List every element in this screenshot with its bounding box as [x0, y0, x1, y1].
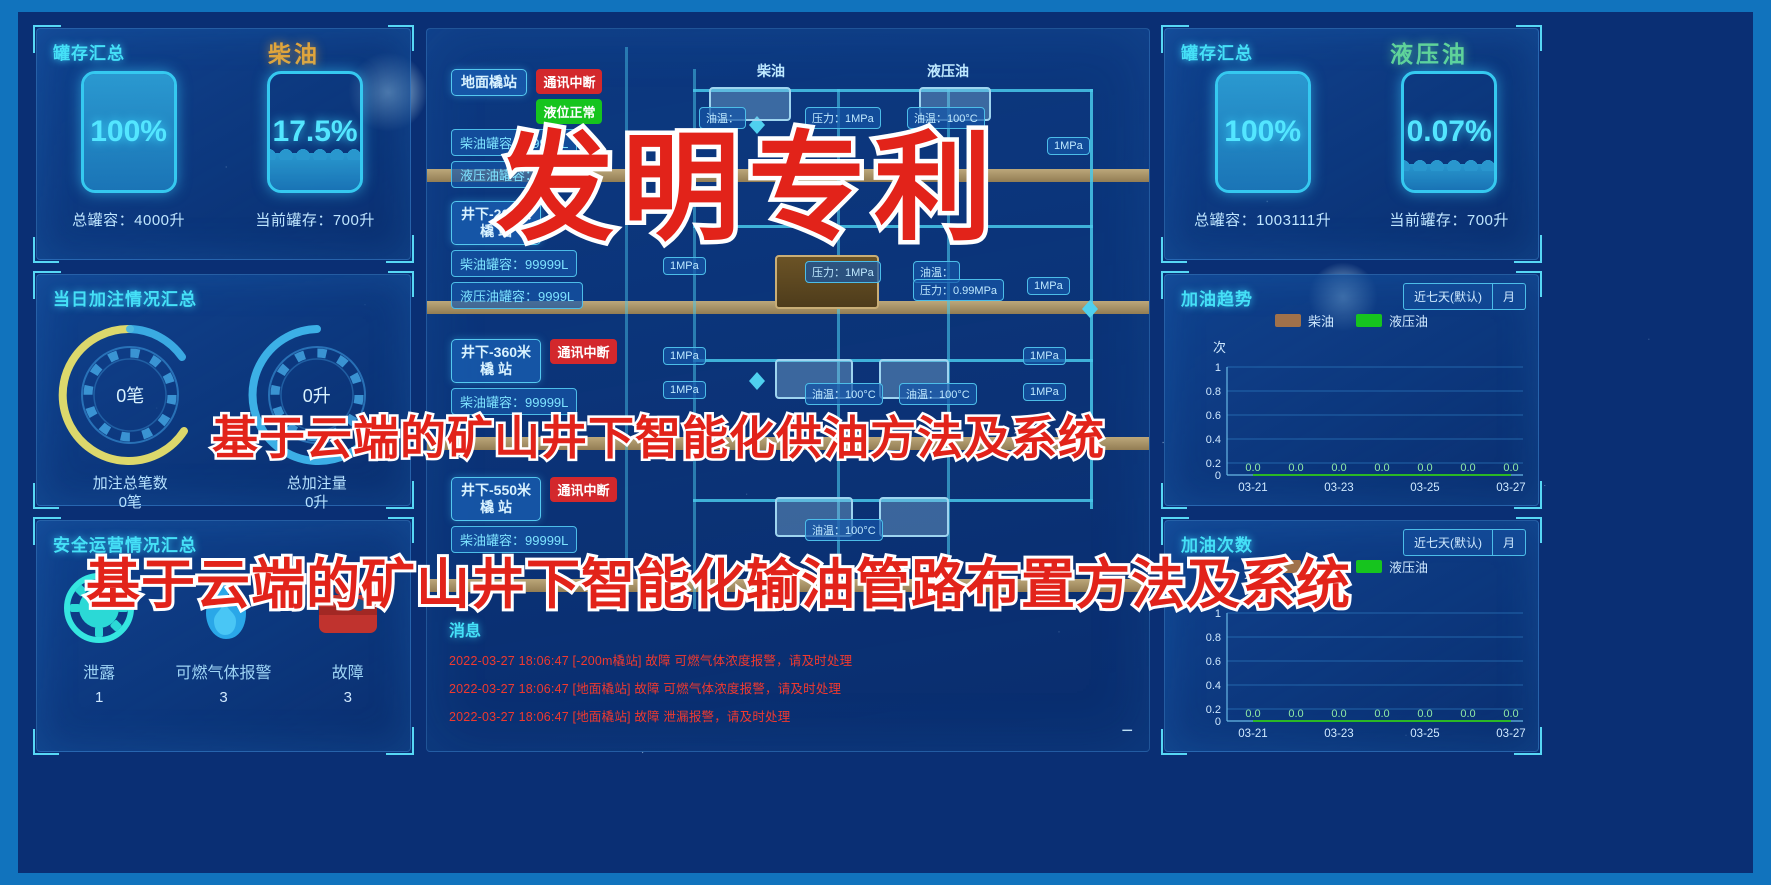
tank-caption: 总罐容：4000升 [72, 209, 185, 230]
capacity-chip: 柴油罐容：99999L [451, 526, 577, 553]
measure-oil-temp-100: 油温：100°C [805, 519, 883, 541]
svg-text:0.6: 0.6 [1206, 410, 1221, 422]
left-refuel-summary-panel: 当日加注情况汇总 0笔 加注总笔数 [36, 274, 411, 506]
svg-text:0.0: 0.0 [1417, 708, 1432, 720]
station-200m[interactable]: 井下-200米 橇 站 柴油罐容：99999L 液压油罐容：9999L [451, 201, 583, 309]
svg-text:0.0: 0.0 [1374, 462, 1389, 474]
svg-text:0.2: 0.2 [1206, 458, 1221, 470]
panel-title: 安全运营情况汇总 [53, 531, 197, 556]
message-log-title: 消息 [449, 617, 1129, 641]
safety-label: 故障 [332, 659, 364, 683]
tank-percent: 100% [1224, 115, 1301, 149]
svg-text:0: 0 [1215, 716, 1221, 728]
dashboard-screen: 罐存汇总 柴油 100% 总罐容：4000升 17.5% 当前罐存：700升 当… [18, 12, 1753, 873]
measure-pipe-pressure: 1MPa [1027, 277, 1070, 295]
tank-percent: 0.07% [1407, 115, 1492, 149]
station-360m[interactable]: 井下-360米 橇 站 通讯中断 柴油罐容：99999L [451, 339, 617, 415]
legend-swatch-hydraulic [1356, 560, 1382, 573]
capacity-chip: 柴油罐容：99999L [451, 250, 577, 277]
tank-caption: 当前罐存：700升 [255, 209, 375, 230]
svg-text:03-21: 03-21 [1238, 728, 1267, 740]
legend-item-diesel[interactable]: 柴油 [1275, 557, 1334, 576]
right-tank-gauges: 100% 总罐容：1003111升 0.07% 当前罐存：700升 [1165, 71, 1538, 230]
svg-text:0.0: 0.0 [1331, 462, 1346, 474]
svg-text:03-25: 03-25 [1410, 728, 1439, 740]
safety-item: 可燃气体报警 3 [163, 571, 283, 706]
dial-value: 0笔 [56, 321, 204, 469]
svg-text:03-25: 03-25 [1410, 482, 1439, 494]
message-item: 2022-03-27 18:06:47 [地面橇站] 故障 泄漏报警，请及时处理 [449, 706, 1129, 725]
legend-swatch-diesel [1275, 560, 1301, 573]
oil-label-diesel: 柴油 [757, 61, 785, 81]
legend-item-diesel[interactable]: 柴油 [1275, 311, 1334, 330]
pipeline-schematic-panel: 地面橇站 通讯中断 液位正常 柴油罐容：99999L 液压油罐容：9999L 井… [426, 28, 1150, 752]
range-button-month[interactable]: 月 [1493, 283, 1526, 310]
legend-item-hydraulic[interactable]: 液压油 [1356, 557, 1428, 576]
legend-swatch-hydraulic [1356, 314, 1382, 327]
count-y-axis-title: 次 [1213, 583, 1226, 602]
svg-text:0.0: 0.0 [1460, 462, 1475, 474]
tank-visual: 100% [1215, 71, 1311, 193]
capacity-chip: 液压油罐容：9999L [451, 161, 583, 188]
svg-text:0.8: 0.8 [1206, 632, 1221, 644]
left-safety-summary-panel: 安全运营情况汇总 泄露 1 [36, 520, 411, 752]
riser-pipe [693, 69, 696, 609]
measure-pressure-099: 压力：0.99MPa [913, 279, 1004, 301]
toolbox-icon [311, 571, 385, 645]
safety-label: 泄露 [83, 659, 115, 683]
svg-text:0.8: 0.8 [1206, 386, 1221, 398]
svg-text:0.2: 0.2 [1206, 704, 1221, 716]
svg-text:0.0: 0.0 [1245, 708, 1260, 720]
svg-text:1: 1 [1215, 608, 1221, 620]
refuel-dial: 0升 总加注量 0升 [243, 321, 391, 513]
svg-text:03-27: 03-27 [1496, 482, 1525, 494]
dial-value: 0升 [243, 321, 391, 469]
tank-percent: 17.5% [273, 115, 358, 149]
count-range-selector: 近七天(默认) 月 [1403, 529, 1526, 556]
flame-icon [186, 571, 260, 645]
tank-caption: 当前罐存：700升 [1389, 209, 1509, 230]
svg-text:0: 0 [1215, 470, 1221, 482]
tank-caption: 总罐容：1003111升 [1194, 209, 1331, 230]
range-button-week[interactable]: 近七天(默认) [1403, 529, 1493, 556]
svg-text:0.0: 0.0 [1288, 462, 1303, 474]
measure-oil-temp: 油温： [699, 107, 746, 129]
svg-text:03-23: 03-23 [1324, 482, 1353, 494]
refuel-dial: 0笔 加注总笔数 0笔 [56, 321, 204, 513]
measure-pipe-pressure: 1MPa [1023, 347, 1066, 365]
safety-item: 泄露 1 [39, 571, 159, 706]
svg-text:0.0: 0.0 [1417, 462, 1432, 474]
svg-text:0.0: 0.0 [1503, 708, 1518, 720]
left-product-label: 柴油 [268, 35, 320, 69]
message-item: 2022-03-27 18:06:47 [地面橇站] 故障 可燃气体浓度报警，请… [449, 678, 1129, 697]
measure-pipe-pressure: 1MPa [1047, 137, 1090, 155]
panel-title: 当日加注情况汇总 [53, 285, 197, 310]
safety-value: 3 [219, 689, 227, 706]
safety-value: 3 [344, 689, 352, 706]
panel-title: 加油次数 [1181, 531, 1253, 556]
legend-label: 液压油 [1389, 557, 1428, 576]
svg-text:0.4: 0.4 [1206, 434, 1221, 446]
tank-gauge: 100% 总罐容：1003111升 [1194, 71, 1331, 230]
status-badge: 通讯中断 [550, 339, 616, 364]
trend-plot-svg: 10.80.6 0.40.20 0.00.00.0 0.00.00.00.0 0… [1183, 357, 1528, 497]
trend-y-axis-title: 次 [1213, 337, 1226, 356]
measure-pipe-pressure: 1MPa [663, 381, 706, 399]
station-name: 地面橇站 [451, 69, 527, 96]
tank-gauge: 17.5% 当前罐存：700升 [255, 71, 375, 230]
panel-title: 加油趋势 [1181, 285, 1253, 310]
panel-title: 罐存汇总 [53, 39, 125, 64]
measure-pipe-pressure: 1MPa [663, 257, 706, 275]
refuel-trend-panel: 加油趋势 近七天(默认) 月 柴油 液压油 次 [1164, 274, 1539, 506]
range-button-month[interactable]: 月 [1493, 529, 1526, 556]
dial-caption-top: 加注总笔数 [93, 475, 168, 492]
measure-oil-temp-100: 油温：100°C [899, 383, 977, 405]
count-plot: 10.80.6 0.40.20 0.00.00.0 0.00.00.00.0 0… [1183, 603, 1528, 743]
status-badge: 通讯中断 [536, 69, 602, 94]
station-ground[interactable]: 地面橇站 通讯中断 液位正常 柴油罐容：99999L 液压油罐容：9999L [451, 69, 602, 188]
station-name: 井下-200米 橇 站 [451, 201, 541, 245]
svg-text:0.0: 0.0 [1374, 708, 1389, 720]
panel-title: 罐存汇总 [1181, 39, 1253, 64]
trend-legend: 柴油 液压油 [1165, 311, 1538, 330]
measure-pressure: 压力：1MPa [805, 107, 881, 129]
measure-pressure: 压力：1MPa [805, 261, 881, 283]
capacity-chip: 柴油罐容：99999L [451, 388, 577, 415]
status-badge: 通讯中断 [550, 477, 616, 502]
dial-caption: 加注总笔数 0笔 [93, 475, 168, 513]
count-plot-svg: 10.80.6 0.40.20 0.00.00.0 0.00.00.00.0 0… [1183, 603, 1528, 743]
legend-item-hydraulic[interactable]: 液压油 [1356, 311, 1428, 330]
refuel-count-panel: 加油次数 近七天(默认) 月 柴油 液压油 次 [1164, 520, 1539, 752]
tank-percent: 100% [90, 115, 167, 149]
measure-oil-temp-100: 油温：100°C [907, 107, 985, 129]
svg-text:0.0: 0.0 [1503, 462, 1518, 474]
strata-level-550 [427, 579, 1149, 592]
svg-text:03-23: 03-23 [1324, 728, 1353, 740]
svg-text:0.4: 0.4 [1206, 680, 1221, 692]
range-button-week[interactable]: 近七天(默认) [1403, 283, 1493, 310]
dial-caption-top: 总加注量 [287, 475, 347, 492]
strata-level-360 [427, 437, 1149, 450]
capacity-chip: 柴油罐容：99999L [451, 129, 577, 156]
message-log: 消息 2022-03-27 18:06:47 [-200m橇站] 故障 可燃气体… [449, 617, 1129, 725]
count-legend: 柴油 液压油 [1165, 557, 1538, 576]
tank-gauge: 0.07% 当前罐存：700升 [1389, 71, 1509, 230]
measure-oil-temp-100: 油温：100°C [805, 383, 883, 405]
safety-label: 可燃气体报警 [175, 659, 271, 683]
safety-value: 1 [95, 689, 103, 706]
dial-caption: 总加注量 0升 [287, 475, 347, 513]
header-pipe [693, 225, 1093, 228]
dial-visual: 0笔 [56, 321, 204, 469]
tank-visual: 0.07% [1401, 71, 1497, 193]
trend-range-selector: 近七天(默认) 月 [1403, 283, 1526, 310]
tank-gauge: 100% 总罐容：4000升 [72, 71, 185, 230]
svg-text:0.0: 0.0 [1460, 708, 1475, 720]
svg-text:03-27: 03-27 [1496, 728, 1525, 740]
minus-icon[interactable]: − [1121, 720, 1133, 743]
safety-item: 故障 3 [288, 571, 408, 706]
equipment-tank [879, 497, 949, 537]
message-item: 2022-03-27 18:06:47 [-200m橇站] 故障 可燃气体浓度报… [449, 650, 1129, 669]
tank-visual: 17.5% [267, 71, 363, 193]
svg-text:1: 1 [1215, 362, 1221, 374]
svg-text:0.0: 0.0 [1245, 462, 1260, 474]
dial-caption-bottom: 0笔 [119, 494, 142, 511]
oil-label-hydraulic: 液压油 [927, 61, 969, 81]
svg-text:0.0: 0.0 [1331, 708, 1346, 720]
left-tank-summary-panel: 罐存汇总 柴油 100% 总罐容：4000升 17.5% 当前罐存：700升 [36, 28, 411, 260]
capacity-chip: 液压油罐容：9999L [451, 282, 583, 309]
right-product-label: 液压油 [1390, 35, 1468, 69]
status-badge: 液位正常 [536, 99, 602, 124]
measure-pipe-pressure: 1MPa [1023, 383, 1066, 401]
refuel-dials: 0笔 加注总笔数 0笔 0升 [37, 321, 410, 513]
legend-swatch-diesel [1275, 314, 1301, 327]
riser-pipe [625, 47, 628, 607]
gear-ring-icon [62, 571, 136, 645]
legend-label: 液压油 [1389, 311, 1428, 330]
safety-items: 泄露 1 可燃气体报警 3 故障 3 [37, 571, 410, 706]
right-tank-summary-panel: 罐存汇总 液压油 100% 总罐容：1003111升 0.07% 当前罐存：70… [1164, 28, 1539, 260]
svg-text:0.0: 0.0 [1288, 708, 1303, 720]
legend-label: 柴油 [1308, 311, 1334, 330]
svg-text:03-21: 03-21 [1238, 482, 1267, 494]
left-tank-gauges: 100% 总罐容：4000升 17.5% 当前罐存：700升 [37, 71, 410, 230]
measure-pipe-pressure: 1MPa [663, 347, 706, 365]
return-pipe [1090, 89, 1093, 509]
screen-frame: 罐存汇总 柴油 100% 总罐容：4000升 17.5% 当前罐存：700升 当… [0, 0, 1771, 885]
station-550m[interactable]: 井下-550米 橇 站 通讯中断 柴油罐容：99999L [451, 477, 617, 553]
dial-caption-bottom: 0升 [305, 494, 328, 511]
svg-text:0.6: 0.6 [1206, 656, 1221, 668]
tank-visual: 100% [81, 71, 177, 193]
trend-plot: 10.80.6 0.40.20 0.00.00.0 0.00.00.00.0 0… [1183, 357, 1528, 497]
legend-label: 柴油 [1308, 557, 1334, 576]
station-name: 井下-360米 橇 站 [451, 339, 541, 383]
dial-visual: 0升 [243, 321, 391, 469]
station-name: 井下-550米 橇 站 [451, 477, 541, 521]
